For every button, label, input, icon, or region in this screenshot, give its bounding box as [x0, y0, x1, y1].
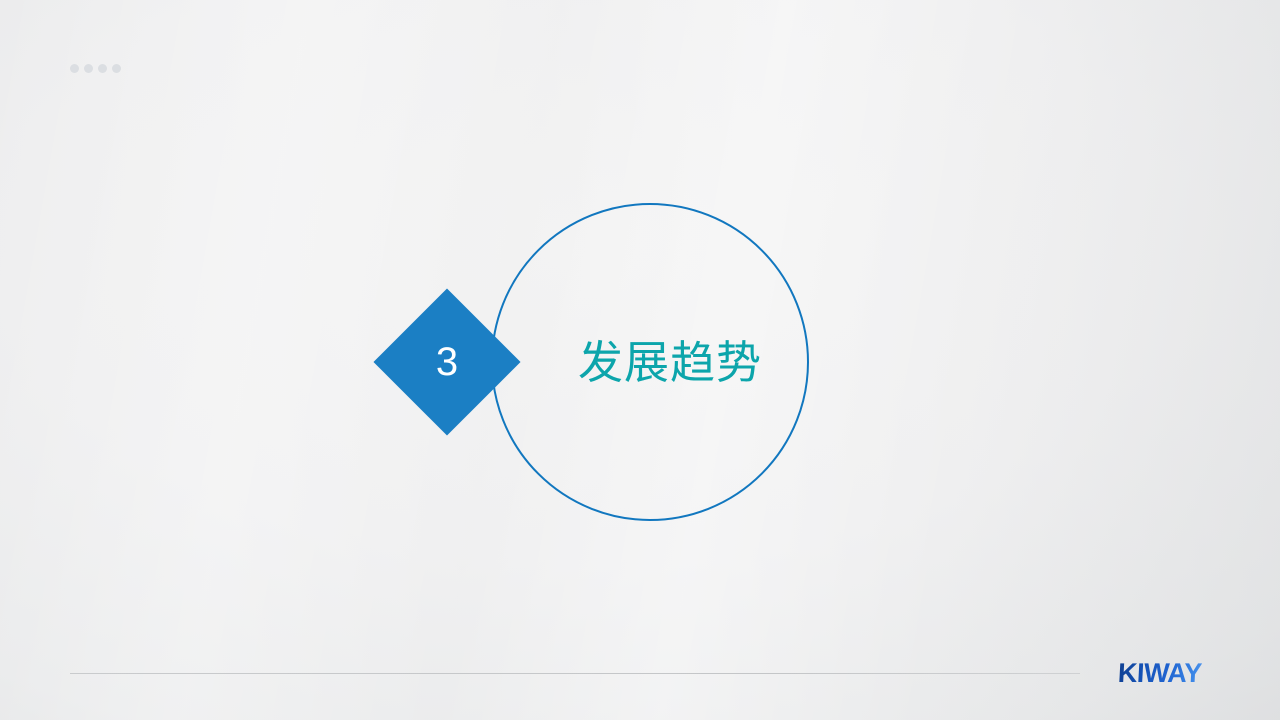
brand-logo-kiway: KIWAY: [1118, 660, 1203, 687]
section-title: 发展趋势: [540, 330, 800, 395]
footer-divider: [70, 673, 1080, 674]
slide-canvas: 3 发展趋势 KIWAY: [0, 0, 1280, 720]
section-number: 3: [395, 310, 499, 414]
section-graphic: 3 发展趋势: [0, 0, 1280, 720]
